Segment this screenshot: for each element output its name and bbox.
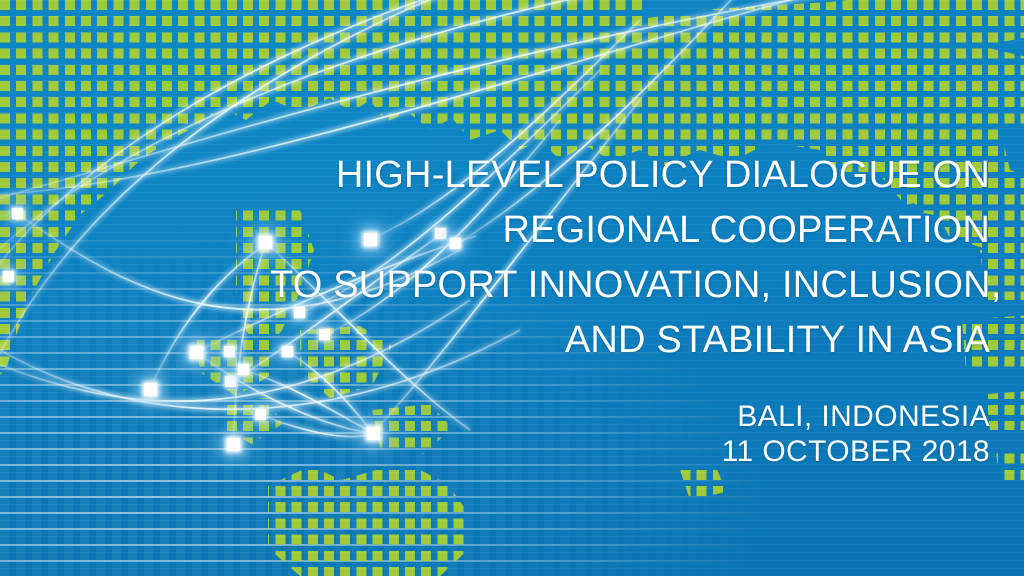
network-node	[238, 364, 249, 375]
title-line-2: REGIONAL COOPERATION	[270, 203, 990, 258]
title-line-4: AND STABILITY IN ASIA	[270, 313, 990, 368]
event-date: 11 OCTOBER 2018	[270, 434, 990, 469]
network-node	[3, 271, 14, 282]
network-node	[225, 376, 236, 387]
event-meta: BALI, INDONESIA 11 OCTOBER 2018	[270, 399, 990, 469]
title-slide: HIGH-LEVEL POLICY DIALOGUE ON REGIONAL C…	[0, 0, 1024, 576]
network-node	[12, 208, 23, 219]
event-title: HIGH-LEVEL POLICY DIALOGUE ON REGIONAL C…	[270, 148, 990, 368]
title-line-1: HIGH-LEVEL POLICY DIALOGUE ON	[270, 148, 990, 203]
network-node	[224, 346, 235, 357]
title-line-3: TO SUPPORT INNOVATION, INCLUSION,	[270, 258, 990, 313]
event-location: BALI, INDONESIA	[270, 399, 990, 434]
network-node	[144, 383, 157, 396]
network-node	[227, 438, 240, 451]
network-node	[255, 409, 266, 420]
network-node	[190, 346, 203, 359]
